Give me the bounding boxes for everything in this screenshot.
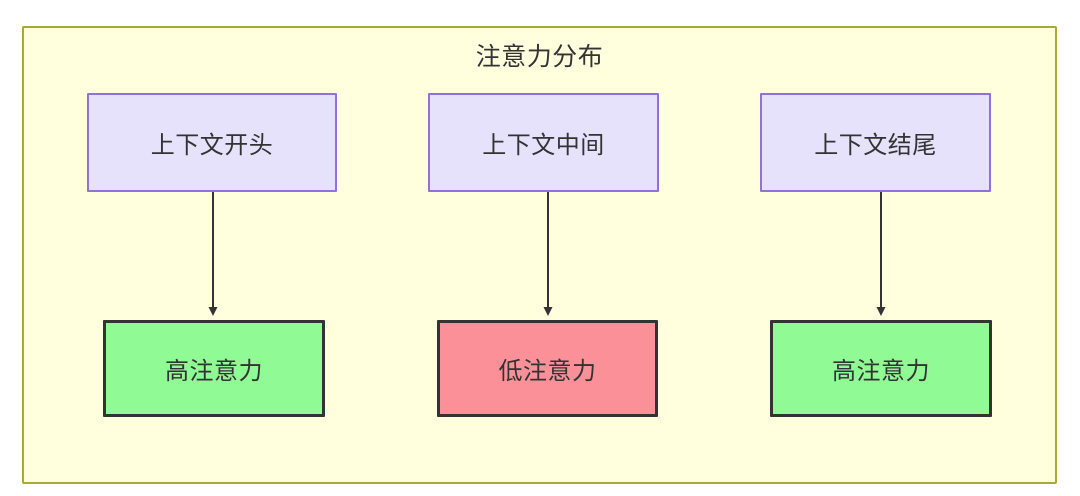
node-low-attention-label: 低注意力 [499,351,597,386]
node-low-attention[interactable]: 低注意力 [437,320,658,417]
node-ctx-end-label: 上下文结尾 [814,125,937,160]
node-high-attention-1-label: 高注意力 [165,351,263,386]
diagram-canvas: 注意力分布 上下文开头 上下文中间 上下文结尾 高注意力 低注意力 高注意力 [0,0,1080,496]
node-ctx-start-label: 上下文开头 [151,125,274,160]
node-ctx-end[interactable]: 上下文结尾 [760,93,991,192]
node-ctx-start[interactable]: 上下文开头 [87,93,337,192]
node-ctx-middle-label: 上下文中间 [482,125,605,160]
node-high-attention-2[interactable]: 高注意力 [770,320,992,417]
cluster-title: 注意力分布 [24,42,1055,72]
node-ctx-middle[interactable]: 上下文中间 [428,93,659,192]
node-high-attention-2-label: 高注意力 [832,351,930,386]
node-high-attention-1[interactable]: 高注意力 [103,320,325,417]
